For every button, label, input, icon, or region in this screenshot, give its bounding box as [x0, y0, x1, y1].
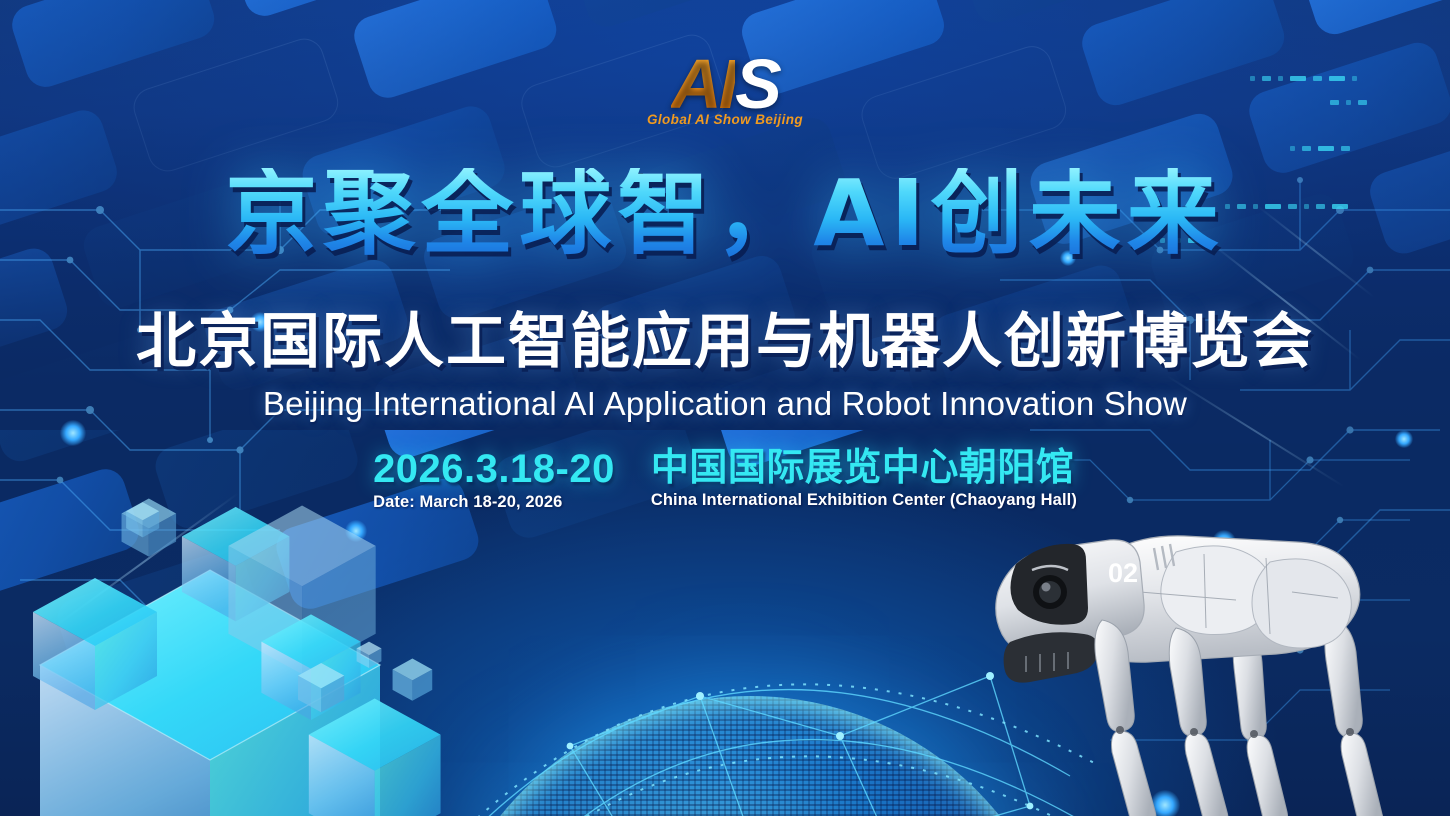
- isometric-cube-small: [255, 608, 375, 728]
- isometric-cube-small: [175, 500, 305, 630]
- event-date-english: Date: March 18-20, 2026: [373, 493, 615, 512]
- event-venue: 中国国际展览中心朝阳馆: [651, 448, 1077, 488]
- isometric-cube-tiny: [295, 660, 351, 716]
- isometric-cube-tiny: [390, 656, 438, 704]
- event-name-chinese: 北京国际人工智能应用与机器人创新博览会: [0, 312, 1450, 372]
- robot-id-label: 02: [1108, 558, 1138, 588]
- isometric-cube-medium: [218, 496, 398, 686]
- isometric-cube-small: [25, 570, 175, 720]
- logo-s-text: S: [735, 45, 779, 123]
- glow-dot: [1212, 530, 1236, 554]
- main-headline: 京聚全球智，AI创未来: [0, 168, 1450, 260]
- light-streak: [51, 493, 238, 630]
- glow-dot: [345, 520, 367, 542]
- glow-dot: [60, 420, 86, 446]
- data-tick-row: [1250, 76, 1357, 81]
- event-venue-block: 中国国际展览中心朝阳馆 China International Exhibiti…: [651, 448, 1077, 510]
- glow-dot: [1395, 430, 1413, 448]
- isometric-cube-cluster: [10, 560, 440, 816]
- event-info-row: 2026.3.18-20 Date: March 18-20, 2026 中国国…: [0, 448, 1450, 512]
- data-tick-row: [1330, 100, 1367, 105]
- logo-ai-text: AI: [671, 45, 735, 123]
- event-name-english: Beijing International AI Application and…: [0, 386, 1450, 422]
- logo-mark: AIS: [575, 52, 875, 116]
- isometric-cube-tiny: [355, 640, 385, 670]
- isometric-cube-small: [300, 690, 460, 816]
- logo-tagline: Global AI Show Beijing: [575, 112, 875, 127]
- event-date-block: 2026.3.18-20 Date: March 18-20, 2026: [373, 448, 615, 512]
- glow-dot: [130, 610, 164, 644]
- event-date: 2026.3.18-20: [373, 448, 615, 490]
- data-tick-row: [1290, 146, 1350, 151]
- event-venue-english: China International Exhibition Center (C…: [651, 491, 1077, 510]
- event-banner: 02 AIS Global AI Show Beijing 京聚全球智，AI创未…: [0, 0, 1450, 816]
- glow-dot: [1150, 790, 1180, 816]
- event-logo: AIS Global AI Show Beijing: [575, 52, 875, 127]
